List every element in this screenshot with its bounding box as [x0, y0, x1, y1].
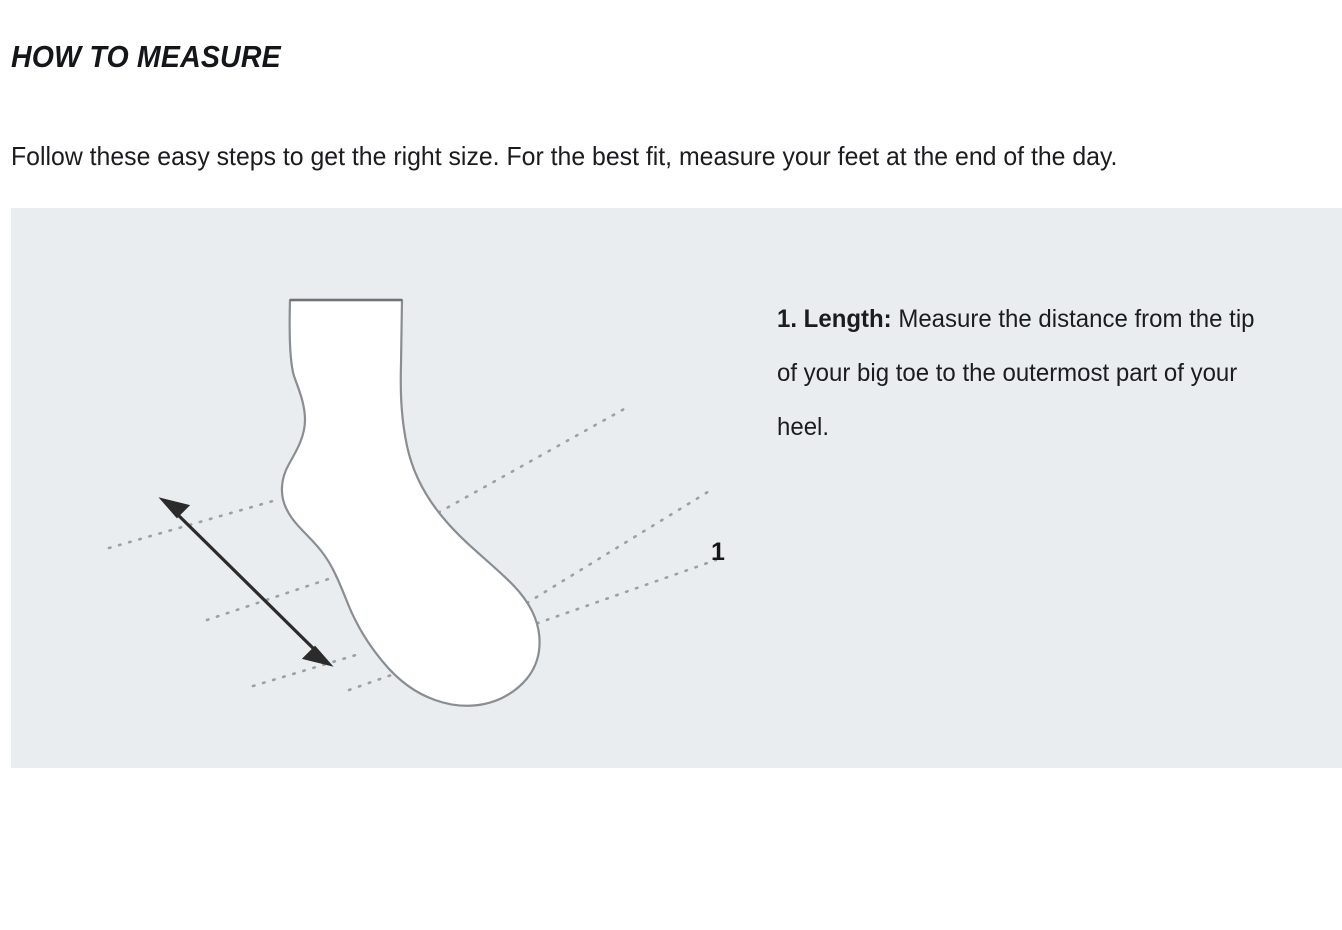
intro-paragraph: Follow these easy steps to get the right…: [11, 130, 1272, 183]
sock-outline: [282, 300, 540, 706]
step-description: 1. Length: Measure the distance from the…: [777, 292, 1257, 454]
page-title: HOW TO MEASURE: [11, 37, 281, 77]
sock-shape: [282, 300, 540, 706]
callout-number-1: 1: [711, 538, 725, 567]
page-root: HOW TO MEASURE Follow these easy steps t…: [0, 0, 1342, 930]
illustration-panel: 1 1. Length: Measure the distance from t…: [11, 208, 1342, 768]
step-label: 1. Length: [777, 305, 884, 333]
sock-illustration: [11, 208, 771, 768]
